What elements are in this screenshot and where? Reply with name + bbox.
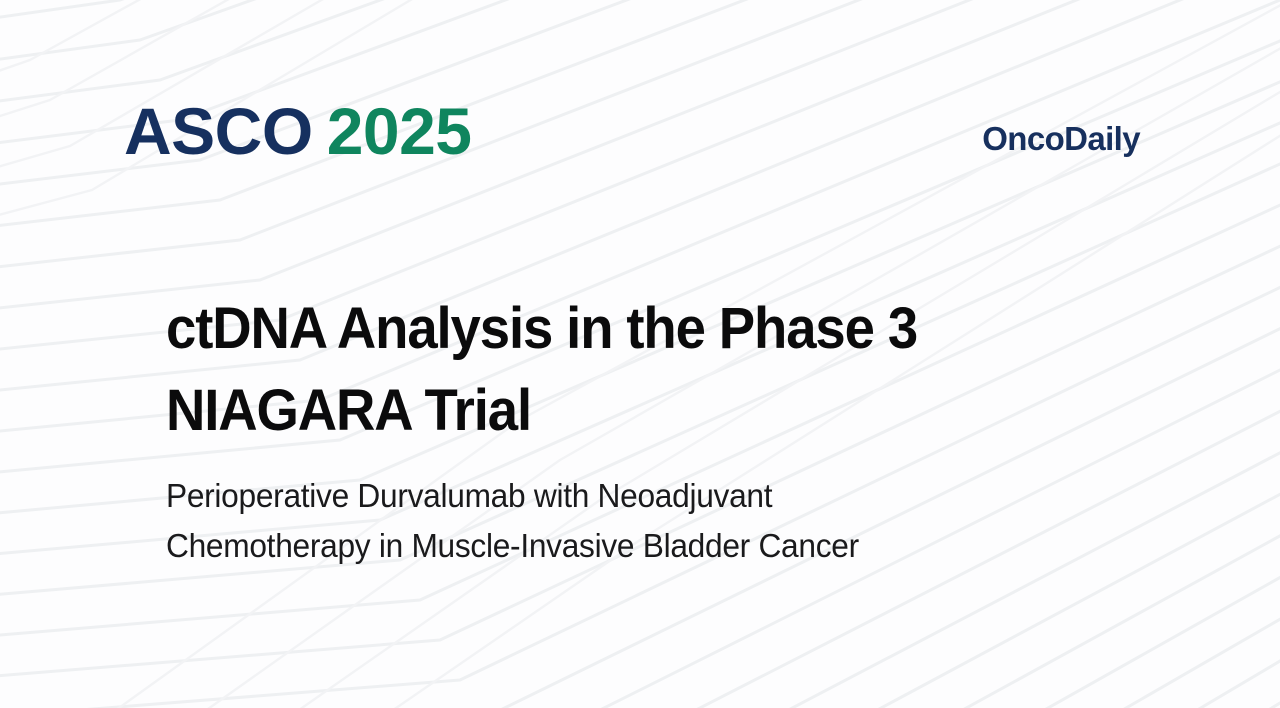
slide-content: ctDNA Analysis in the Phase 3 NIAGARA Tr… — [166, 288, 1026, 571]
slide-header: ASCO 2025 OncoDaily — [0, 0, 1280, 200]
page-title: ctDNA Analysis in the Phase 3 NIAGARA Tr… — [166, 288, 918, 453]
oncodaily-logo: OncoDaily — [982, 120, 1140, 158]
asco-logo: ASCO 2025 — [124, 98, 472, 164]
presentation-slide: ASCO 2025 OncoDaily ctDNA Analysis in th… — [0, 0, 1280, 708]
asco-logo-word: ASCO — [124, 98, 313, 164]
asco-logo-year: 2025 — [327, 98, 472, 164]
page-subtitle: Perioperative Durvalumab with Neoadjuvan… — [166, 471, 963, 571]
